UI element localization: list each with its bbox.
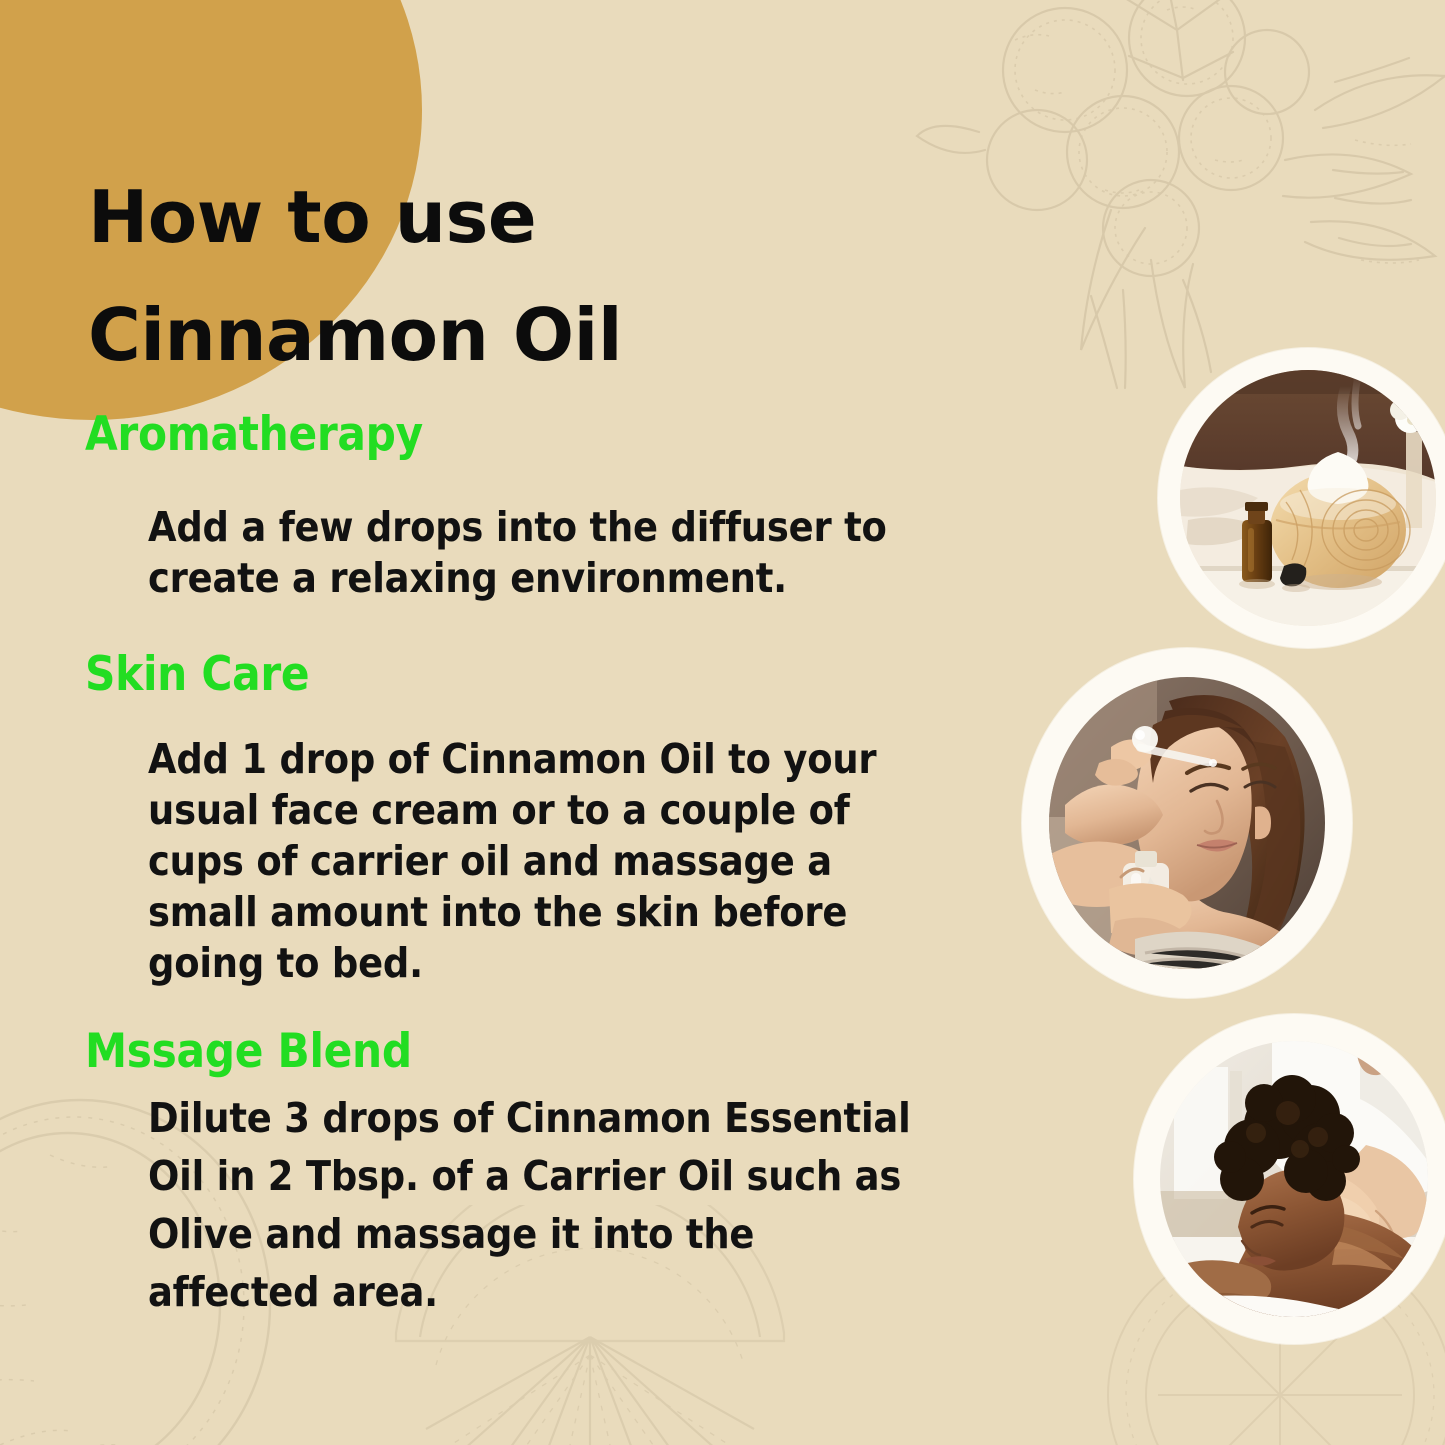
section-body-aromatherapy: Add a few drops into the diffuser to cre…	[148, 502, 908, 604]
massage-photo	[1134, 1014, 1445, 1344]
section-heading-massage-blend: Mssage Blend	[85, 1023, 1000, 1081]
section-massage-blend: Mssage Blend Dilute 3 drops of Cinnamon …	[0, 1023, 1000, 1321]
skin-care-serum-photo	[1022, 648, 1352, 998]
aromatherapy-diffuser-image	[1180, 370, 1436, 626]
section-body-massage-blend: Dilute 3 drops of Cinnamon Essential Oil…	[148, 1089, 938, 1321]
section-body-skin-care: Add 1 drop of Cinnamon Oil to your usual…	[148, 734, 908, 989]
title-line-1: How to use	[88, 158, 908, 276]
section-aromatherapy: Aromatherapy Add a few drops into the di…	[0, 406, 1000, 604]
page-title: How to use Cinnamon Oil	[88, 158, 908, 394]
skin-care-serum-image	[1049, 677, 1325, 969]
poster-canvas: How to use Cinnamon Oil Aromatherapy Add…	[0, 0, 1445, 1445]
aromatherapy-diffuser-photo	[1158, 348, 1445, 648]
massage-image	[1160, 1041, 1428, 1317]
title-line-2: Cinnamon Oil	[88, 276, 908, 394]
content-column: How to use Cinnamon Oil Aromatherapy Add…	[0, 0, 1000, 1445]
section-skin-care: Skin Care Add 1 drop of Cinnamon Oil to …	[0, 646, 1000, 989]
section-heading-aromatherapy: Aromatherapy	[85, 406, 1000, 464]
usage-sections-list: Aromatherapy Add a few drops into the di…	[0, 406, 1000, 1321]
section-heading-skin-care: Skin Care	[85, 646, 1000, 704]
